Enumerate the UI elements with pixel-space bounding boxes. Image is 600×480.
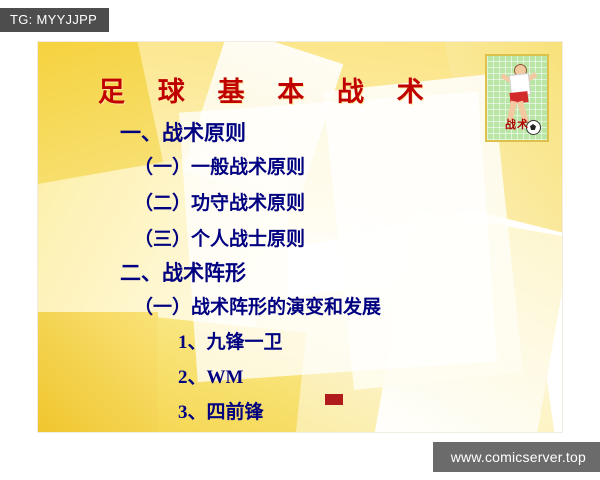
illustration-caption: 战术 bbox=[487, 116, 547, 132]
presentation-slide: 战术 足 球 基 本 战 术 一、战术原则 （一）一般战术原则 （二）功守战术原… bbox=[37, 41, 563, 433]
outline-item-8: 2、WM bbox=[178, 362, 243, 389]
red-marker-block bbox=[325, 394, 343, 405]
outline-item-9: 3、四前锋 bbox=[178, 397, 264, 424]
outline-item-3: （二）功守战术原则 bbox=[134, 188, 305, 215]
outline-item-10: 4、四二四 bbox=[178, 432, 264, 433]
outline-item-7: 1、九锋一卫 bbox=[178, 327, 283, 354]
outline-item-1: 一、战术原则 bbox=[120, 117, 246, 147]
uploader-tag: TG: MYYJJPP bbox=[0, 8, 109, 32]
outline-item-6: （一）战术阵形的演变和发展 bbox=[134, 292, 381, 319]
outline-item-4: （三）个人战士原则 bbox=[134, 224, 305, 251]
slide-content: 足 球 基 本 战 术 一、战术原则 （一）一般战术原则 （二）功守战术原则 （… bbox=[38, 42, 562, 432]
outline-item-2: （一）一般战术原则 bbox=[134, 152, 305, 179]
site-watermark: www.comicserver.top bbox=[433, 442, 600, 472]
outline-item-5: 二、战术阵形 bbox=[120, 257, 246, 287]
slide-title: 足 球 基 本 战 术 bbox=[98, 70, 437, 109]
soccer-player-illustration: 战术 bbox=[485, 54, 549, 142]
